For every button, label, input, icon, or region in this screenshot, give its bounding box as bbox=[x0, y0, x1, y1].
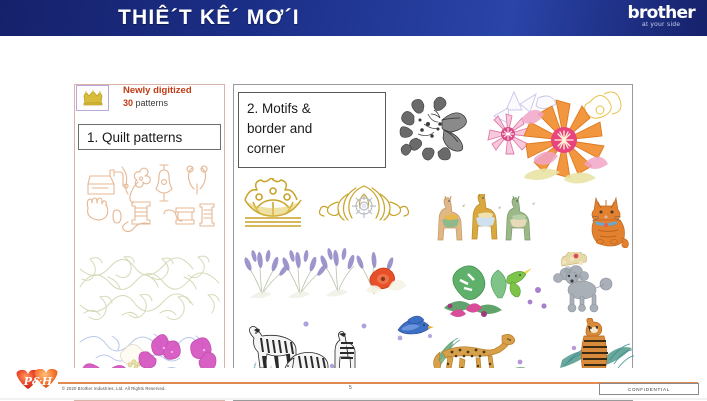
orange-cat bbox=[586, 194, 632, 248]
page-number: 5 bbox=[349, 385, 352, 391]
ph-logo-text: P&H bbox=[23, 375, 53, 388]
slide-header: THIÊ´T KÊ´ MƠ´I brother at your side bbox=[0, 0, 707, 36]
orange-pink-flower-cluster bbox=[478, 88, 630, 188]
orange-poppy bbox=[352, 250, 408, 298]
pattern-count-suffix: patterns bbox=[133, 98, 168, 108]
gold-silver-filigree-ornament bbox=[318, 182, 410, 226]
crown-icon bbox=[82, 90, 104, 106]
pattern-count: 30 patterns bbox=[123, 97, 233, 109]
copyright-text: © 2020 Brother Industries, Ltd. All Righ… bbox=[62, 386, 166, 391]
brother-logo: brother at your side bbox=[628, 5, 695, 29]
blue-bird bbox=[392, 312, 436, 342]
slide: THIÊ´T KÊ´ MƠ´I brother at your side bbox=[0, 0, 707, 400]
ph-logo: P&H bbox=[12, 369, 64, 395]
leaf-scrollwork-row bbox=[78, 251, 221, 323]
section-2-line-3: corner bbox=[247, 139, 385, 159]
page-title: THIÊ´T KÊ´ MƠ´I bbox=[118, 6, 300, 30]
brand-name: brother bbox=[628, 5, 695, 21]
slide-footer: P&H © 2020 Brother Industries, Ltd. All … bbox=[0, 368, 707, 400]
sewing-tools-outline-row bbox=[80, 158, 219, 232]
llama-trio bbox=[432, 194, 542, 252]
section-1-quilt-patterns-box: 1. Quilt patterns bbox=[78, 124, 221, 150]
black-lineart-floral-butterfly bbox=[398, 94, 476, 166]
confidential-badge: CONFIDENTIAL bbox=[599, 383, 699, 395]
newly-digitized-title: Newly digitized bbox=[123, 85, 233, 97]
newly-digitized-label: Newly digitized 30 patterns bbox=[123, 85, 233, 109]
gold-crown-motif bbox=[239, 178, 307, 230]
confidential-label: CONFIDENTIAL bbox=[628, 387, 670, 392]
section-2-line-1: 2. Motifs & bbox=[247, 99, 385, 119]
slide-body: Newly digitized 30 patterns 1. Quilt pat… bbox=[0, 36, 707, 368]
section-2-motifs-box: 2. Motifs & border and corner bbox=[238, 92, 386, 168]
section-1-label: 1. Quilt patterns bbox=[87, 130, 182, 145]
crown-badge-chip bbox=[76, 85, 109, 111]
section-2-line-2: border and bbox=[247, 119, 385, 139]
pattern-count-number: 30 bbox=[123, 98, 133, 108]
tropical-leaves-hummingbird bbox=[442, 262, 552, 320]
lavender-sprigs bbox=[242, 236, 360, 298]
gray-poodle bbox=[548, 252, 616, 314]
